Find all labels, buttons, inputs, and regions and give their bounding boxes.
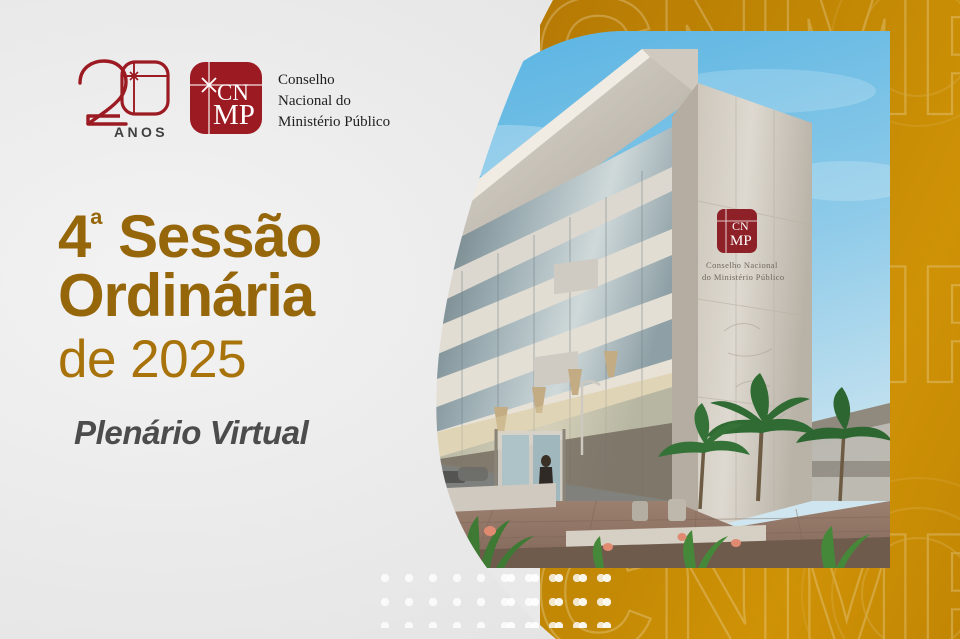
cnmp-name-line-2: Nacional do xyxy=(278,93,351,109)
ordinal-suffix: ª xyxy=(90,207,102,244)
cnmp-logo-mark: CN MP xyxy=(189,61,263,135)
poster-canvas: CNMP CNMP CNMP xyxy=(0,0,960,639)
cnmp-wordmark: Conselho Nacional do Ministério Público xyxy=(278,67,410,129)
svg-text:do Ministério Público: do Ministério Público xyxy=(702,272,785,282)
headline-block: 4ª Sessão Ordinária de 2025 Plenário Vir… xyxy=(58,208,458,452)
twenty-years-logo: ANOS xyxy=(74,56,174,140)
cnmp-name-line-3: Ministério Público xyxy=(278,114,390,129)
venue-label: Plenário Virtual xyxy=(74,414,458,452)
anniversary-word: ANOS xyxy=(114,124,168,140)
dot-grid-pattern-orange xyxy=(505,572,613,628)
cnmp-name-line-1: Conselho xyxy=(278,72,335,88)
cnmp-acronym-bottom: MP xyxy=(213,99,255,131)
building-photo-artwork: CN MP Conselho Nacional do Ministério Pú… xyxy=(436,31,890,568)
svg-text:MP: MP xyxy=(730,233,752,249)
session-number: 4 xyxy=(58,203,90,270)
svg-text:CN: CN xyxy=(732,219,749,233)
word-session: Sessão xyxy=(118,203,321,270)
logo-lockup: ANOS CN MP Conselho Nacional do Ministér… xyxy=(74,56,410,140)
svg-text:Conselho Nacional: Conselho Nacional xyxy=(706,260,778,270)
headline-year: de 2025 xyxy=(58,330,458,390)
building-photo: CN MP Conselho Nacional do Ministério Pú… xyxy=(436,31,890,568)
headline-line-1: 4ª Sessão xyxy=(58,208,458,267)
headline-line-2: Ordinária xyxy=(58,267,458,326)
